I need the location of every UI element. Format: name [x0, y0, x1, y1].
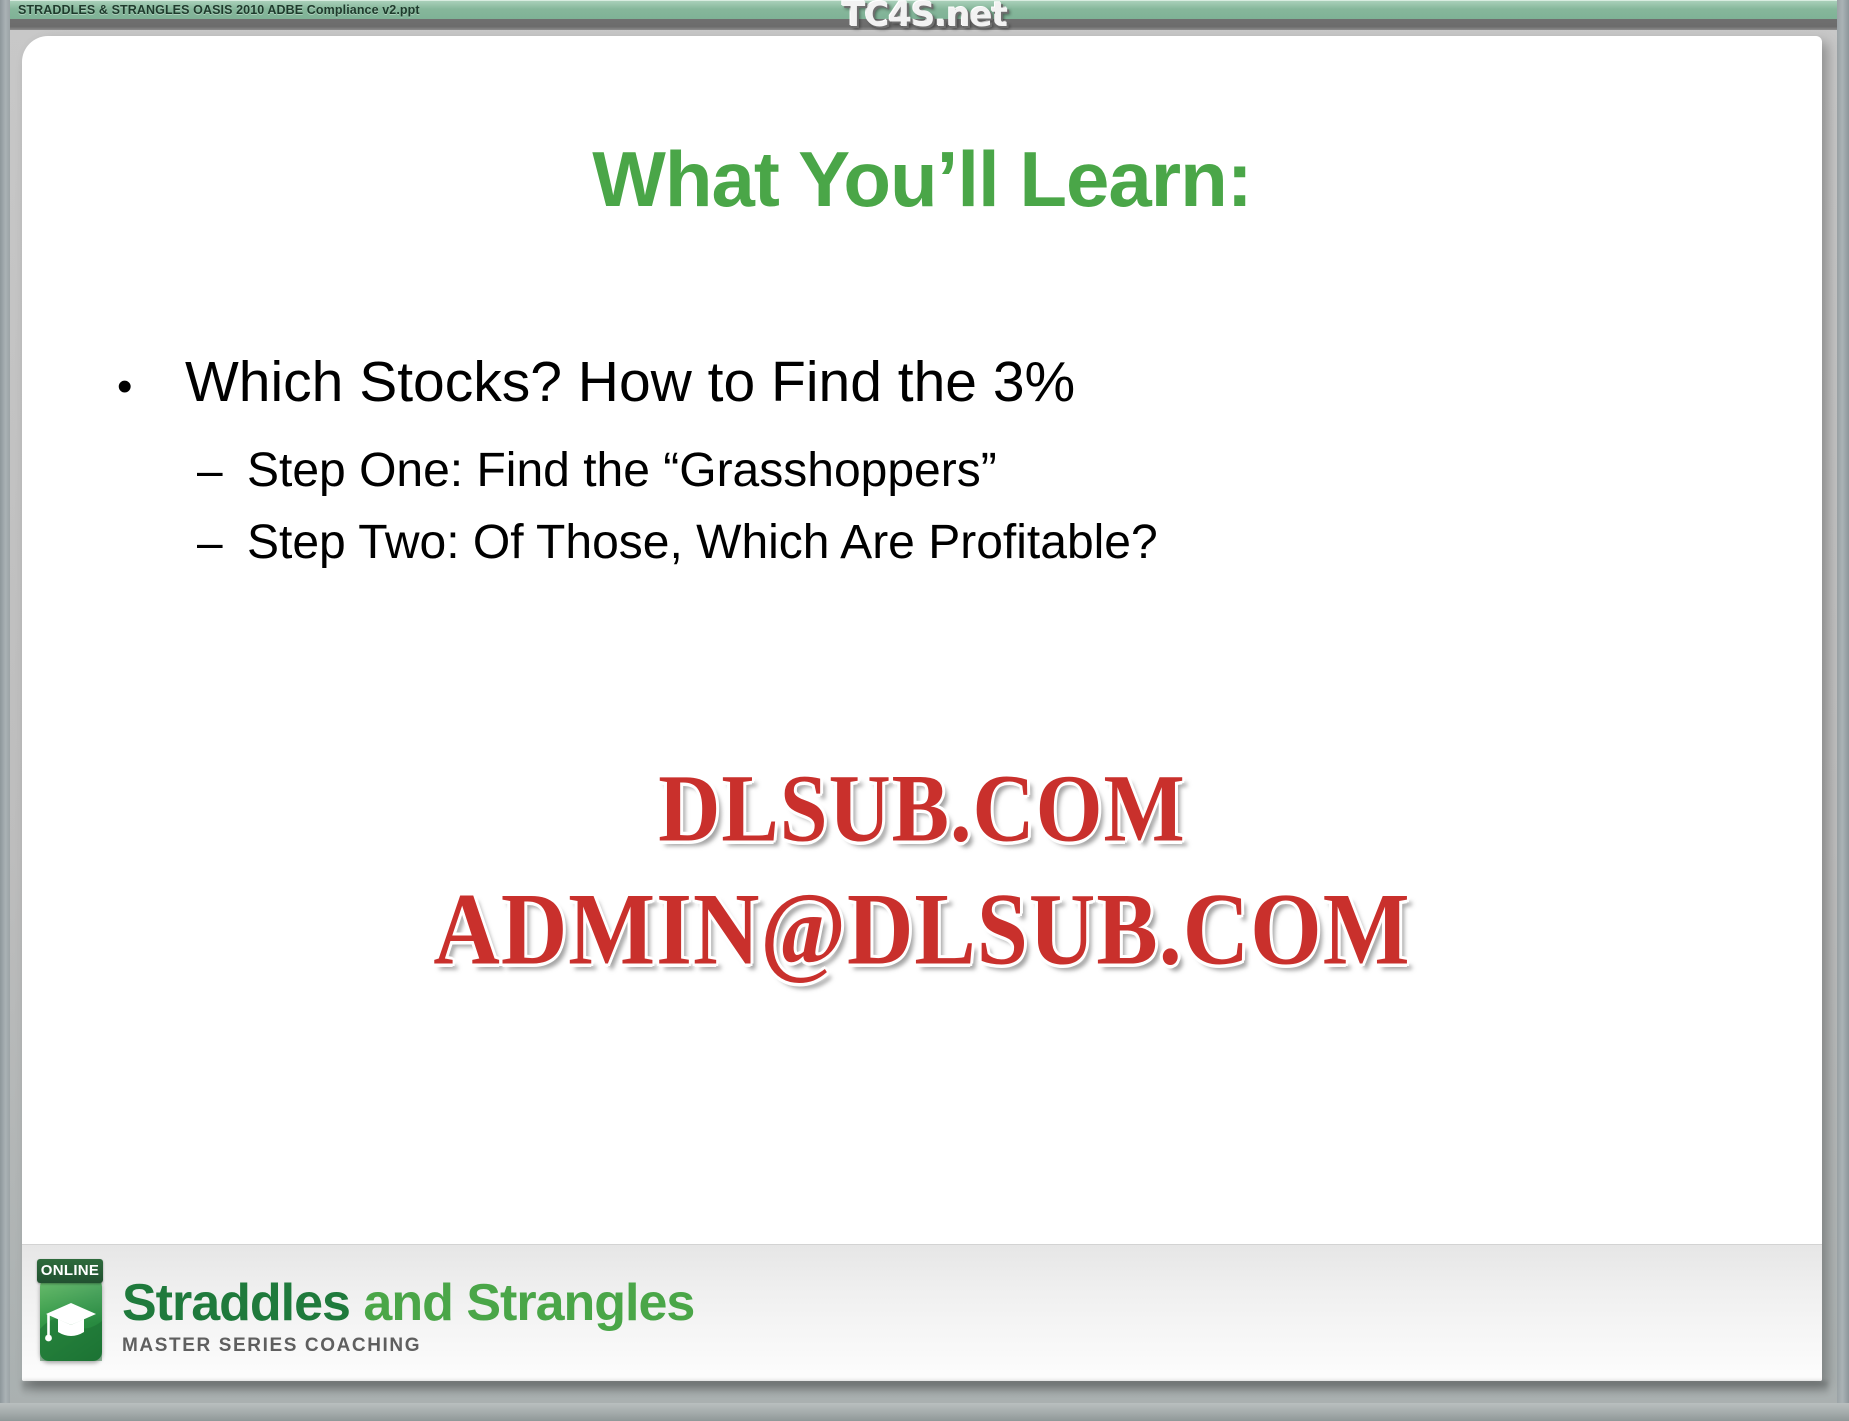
watermark-domain-stamp: DLSUB.COM: [22, 752, 1822, 864]
bullet-item-level2: – Step Two: Of Those, Which Are Profitab…: [197, 519, 1717, 567]
window-left-edge: [0, 0, 10, 1421]
logo-word-secondary: and Strangles: [350, 1274, 694, 1332]
logo-subline: MASTER SERIES COACHING: [122, 1335, 694, 1357]
logo-wordmark: Straddles and Strangles: [122, 1277, 694, 1329]
logo-tile: [40, 1277, 102, 1361]
bullet-item-level1: • Which Stocks? How to Find the 3%: [117, 354, 1717, 411]
brand-logo: ONLINE: [34, 1259, 694, 1363]
window-right-edge: [1837, 0, 1849, 1421]
watermark-email-stamp: ADMIN@DLSUB.COM: [22, 870, 1822, 989]
logo-word-primary: Straddles: [122, 1274, 350, 1332]
slide-title: What You’ll Learn:: [22, 134, 1822, 225]
graduation-cap-icon: [40, 1277, 102, 1361]
titlebar-underline: [10, 19, 1837, 30]
logo-mark: ONLINE: [34, 1259, 108, 1363]
bullet-item-level2: – Step One: Find the “Grasshoppers”: [197, 447, 1717, 495]
slide-footer: ONLINE: [22, 1244, 1822, 1381]
slide-body: • Which Stocks? How to Find the 3% – Ste…: [117, 354, 1717, 591]
online-badge: ONLINE: [37, 1259, 103, 1283]
window-title-text: STRADDLES & STRANGLES OASIS 2010 ADBE Co…: [18, 3, 420, 17]
bullet-text: Which Stocks? How to Find the 3%: [185, 354, 1075, 411]
bullet-marker-dot: •: [117, 365, 185, 409]
bullet-text: Step One: Find the “Grasshoppers”: [247, 447, 997, 495]
presentation-slide: What You’ll Learn: • Which Stocks? How t…: [22, 36, 1822, 1381]
application-window: STRADDLES & STRANGLES OASIS 2010 ADBE Co…: [0, 0, 1849, 1421]
logo-wordmark-group: Straddles and Strangles MASTER SERIES CO…: [122, 1259, 694, 1357]
bullet-marker-dash: –: [197, 447, 247, 493]
slide-drop-shadow: [22, 1381, 1828, 1395]
window-titlebar[interactable]: STRADDLES & STRANGLES OASIS 2010 ADBE Co…: [10, 0, 1837, 19]
window-bottom-edge: [0, 1403, 1849, 1421]
bullet-text: Step Two: Of Those, Which Are Profitable…: [247, 519, 1158, 567]
bullet-marker-dash: –: [197, 519, 247, 565]
